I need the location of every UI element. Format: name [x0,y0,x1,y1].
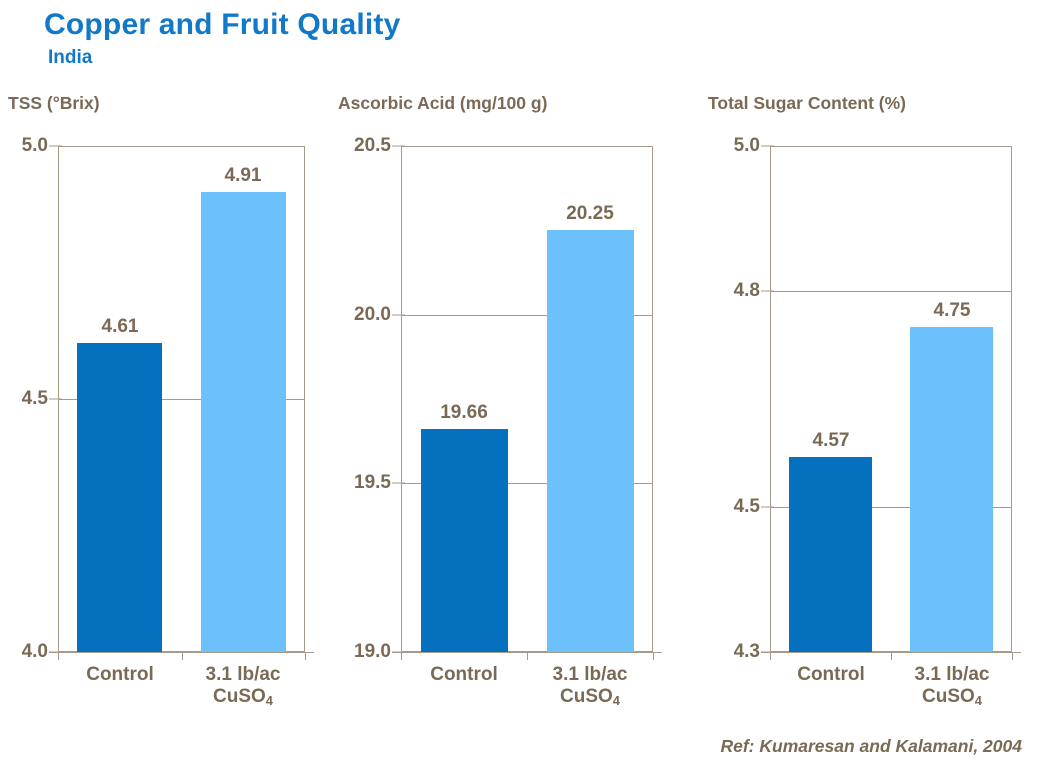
chart-title-1: TSS (°Brix) [8,93,100,114]
y-axis-tick-label: 5.0 [708,135,760,157]
x-axis-tick-mark [891,653,892,660]
x-axis-tick-mark [527,653,528,660]
y-axis-tick-label: 19.5 [339,472,391,494]
x-axis-tick-mark [182,653,183,660]
bar-treatment [547,230,634,652]
y-axis-tick-mark [392,483,405,484]
bar-control [421,429,508,652]
bar-value-label: 4.57 [813,430,850,452]
x-axis-category-label: Control [86,664,154,686]
bar-control [77,343,162,652]
y-axis-tick-mark [761,146,774,147]
chart-title-3: Total Sugar Content (%) [708,93,906,114]
x-axis-category-label: Control [430,664,498,686]
x-axis-category-label: 3.1 lb/acCuSO4 [915,664,990,709]
x-axis-tick-mark [1012,653,1013,660]
page-title: Copper and Fruit Quality [44,8,400,42]
y-axis-tick-label: 5.0 [0,135,48,157]
reference-citation: Ref: Kumaresan and Kalamani, 2004 [720,736,1022,757]
y-axis-tick-mark [49,399,62,400]
y-axis-tick-label: 4.8 [708,280,760,302]
bar-value-label: 20.25 [566,203,614,225]
x-axis-category-label: Control [797,664,865,686]
gridline [770,291,1012,292]
y-axis-tick-label: 4.0 [0,641,48,663]
y-axis-tick-label: 20.5 [339,135,391,157]
x-axis-tick-mark [770,653,771,660]
x-axis-category-label: 3.1 lb/acCuSO4 [553,664,628,709]
x-axis-category-label: 3.1 lb/acCuSO4 [206,664,281,709]
x-axis-tick-mark [653,653,654,660]
y-axis-tick-label: 4.3 [708,641,760,663]
bar-value-label: 4.75 [934,300,971,322]
x-axis-tick-mark [58,653,59,660]
bar-value-label: 4.61 [102,316,139,338]
chart-title-2: Ascorbic Acid (mg/100 g) [338,93,547,114]
bar-treatment [910,327,993,652]
y-axis-tick-mark [761,507,774,508]
x-axis-tick-mark [305,653,306,660]
y-axis-tick-label: 19.0 [339,641,391,663]
bar-value-label: 4.91 [225,165,262,187]
y-axis-tick-label: 4.5 [708,496,760,518]
y-axis-tick-mark [761,290,774,291]
bar-value-label: 19.66 [440,402,488,424]
x-axis-tick-mark [401,653,402,660]
page-subtitle: India [48,47,92,69]
bar-control [789,457,872,652]
y-axis-tick-label: 4.5 [0,388,48,410]
bar-treatment [201,192,286,652]
slide-root: Copper and Fruit Quality India TSS (°Bri… [0,0,1042,765]
y-axis-tick-mark [392,314,405,315]
y-axis-tick-mark [392,146,405,147]
y-axis-tick-label: 20.0 [339,304,391,326]
y-axis-tick-mark [49,146,62,147]
